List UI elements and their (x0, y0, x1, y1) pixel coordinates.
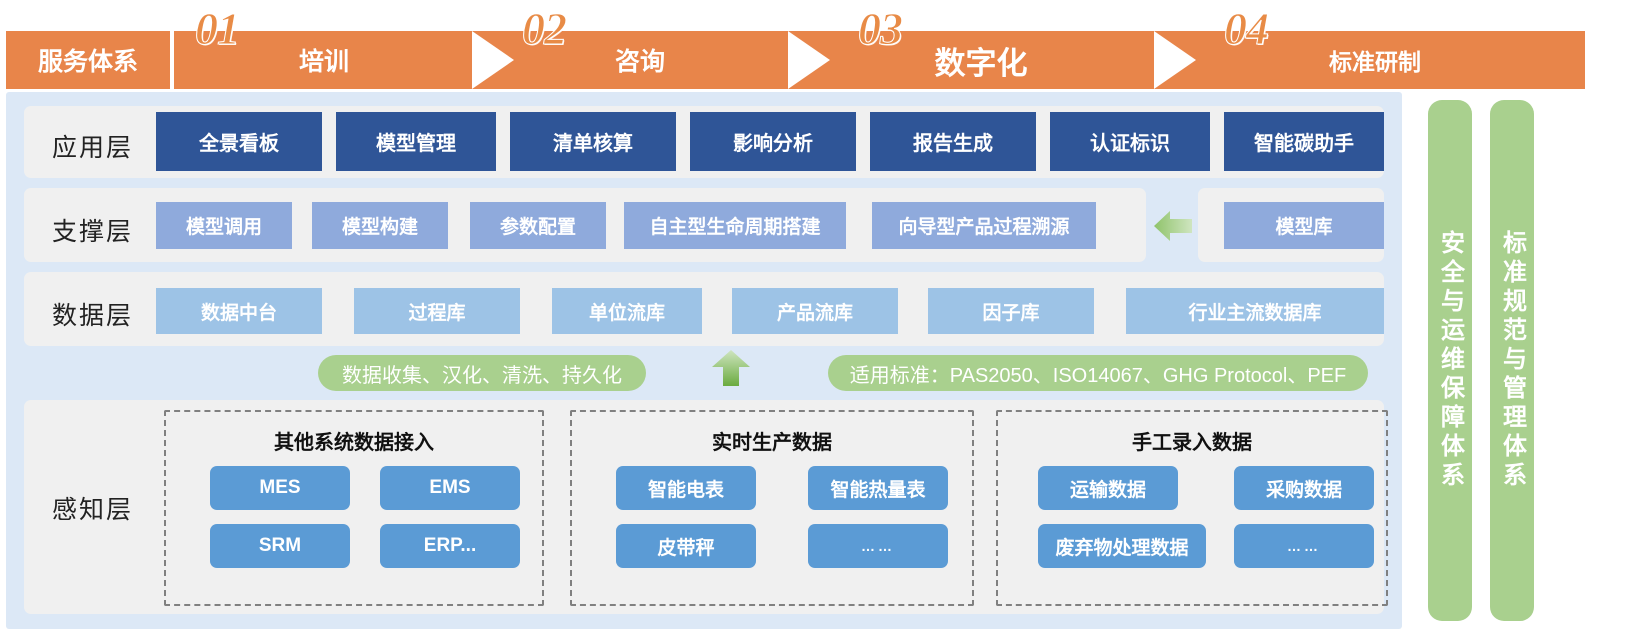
perception-item-1-2[interactable]: 皮带秤 (616, 524, 756, 568)
side-bar-standards-label: 标准规范与管理体系 (1495, 230, 1530, 491)
data-item-0[interactable]: 数据中台 (156, 288, 322, 334)
banner-step-2-number: 02 (522, 2, 566, 55)
app-item-4[interactable]: 报告生成 (870, 112, 1036, 171)
support-item-0[interactable]: 模型调用 (156, 202, 292, 249)
support-item-3[interactable]: 自主型生命周期搭建 (624, 202, 846, 249)
perception-group-1-title: 实时生产数据 (572, 426, 972, 455)
app-item-1[interactable]: 模型管理 (336, 112, 496, 171)
side-bar-security-label: 安全与运维保障体系 (1433, 230, 1468, 491)
perception-item-1-1[interactable]: 智能热量表 (808, 466, 948, 510)
perception-item-1-0[interactable]: 智能电表 (616, 466, 756, 510)
up-arrow-icon (712, 350, 750, 386)
perception-item-0-1[interactable]: EMS (380, 466, 520, 510)
perception-item-0-3[interactable]: ERP... (380, 524, 520, 568)
app-item-3[interactable]: 影响分析 (690, 112, 856, 171)
application-layer-label: 应用层 (52, 128, 133, 164)
perception-item-2-2[interactable]: 废弃物处理数据 (1038, 524, 1206, 568)
perception-item-2-1[interactable]: 采购数据 (1234, 466, 1374, 510)
perception-group-0-title: 其他系统数据接入 (166, 426, 542, 455)
support-side-item-0[interactable]: 模型库 (1224, 202, 1384, 249)
left-arrow-icon (1154, 209, 1192, 243)
banner-lead-block (6, 31, 170, 89)
pipeline-left-pill: 数据收集、汉化、清洗、持久化 (318, 355, 646, 391)
app-item-2[interactable]: 清单核算 (510, 112, 676, 171)
support-item-4[interactable]: 向导型产品过程溯源 (872, 202, 1096, 249)
data-item-5[interactable]: 行业主流数据库 (1126, 288, 1384, 334)
perception-item-2-3[interactable]: …… (1234, 524, 1374, 568)
data-item-1[interactable]: 过程库 (354, 288, 520, 334)
perception-group-1: 实时生产数据 智能电表 智能热量表 皮带秤 …… (570, 410, 974, 606)
banner-step-3-number: 03 (858, 2, 902, 55)
support-layer-label: 支撑层 (52, 212, 133, 248)
banner-step-4-number: 04 (1224, 2, 1268, 55)
perception-group-2: 手工录入数据 运输数据 采购数据 废弃物处理数据 …… (996, 410, 1388, 606)
data-item-4[interactable]: 因子库 (928, 288, 1094, 334)
data-item-2[interactable]: 单位流库 (552, 288, 702, 334)
banner-chevron-4-icon (1585, 31, 1627, 89)
app-item-5[interactable]: 认证标识 (1050, 112, 1210, 171)
perception-item-0-0[interactable]: MES (210, 466, 350, 510)
process-banner: 服务体系 培训 01 咨询 02 数字化 03 标准研制 04 (0, 0, 1627, 90)
support-item-1[interactable]: 模型构建 (312, 202, 448, 249)
perception-layer-label: 感知层 (52, 490, 133, 526)
perception-item-2-0[interactable]: 运输数据 (1038, 466, 1178, 510)
perception-group-2-title: 手工录入数据 (998, 426, 1386, 455)
side-bar-security: 安全与运维保障体系 (1428, 100, 1472, 621)
data-layer-label: 数据层 (52, 296, 133, 332)
pipeline-right-pill: 适用标准：PAS2050、ISO14067、GHG Protocol、PEF (828, 355, 1368, 391)
side-bar-standards: 标准规范与管理体系 (1490, 100, 1534, 621)
banner-step-1-number: 01 (195, 2, 239, 55)
support-item-2[interactable]: 参数配置 (470, 202, 606, 249)
app-item-6[interactable]: 智能碳助手 (1224, 112, 1384, 171)
perception-item-0-2[interactable]: SRM (210, 524, 350, 568)
data-item-3[interactable]: 产品流库 (732, 288, 898, 334)
perception-group-0: 其他系统数据接入 MES EMS SRM ERP... (164, 410, 544, 606)
app-item-0[interactable]: 全景看板 (156, 112, 322, 171)
perception-item-1-3[interactable]: …… (808, 524, 948, 568)
architecture-panel: 应用层 全景看板 模型管理 清单核算 影响分析 报告生成 认证标识 智能碳助手 … (6, 92, 1402, 629)
